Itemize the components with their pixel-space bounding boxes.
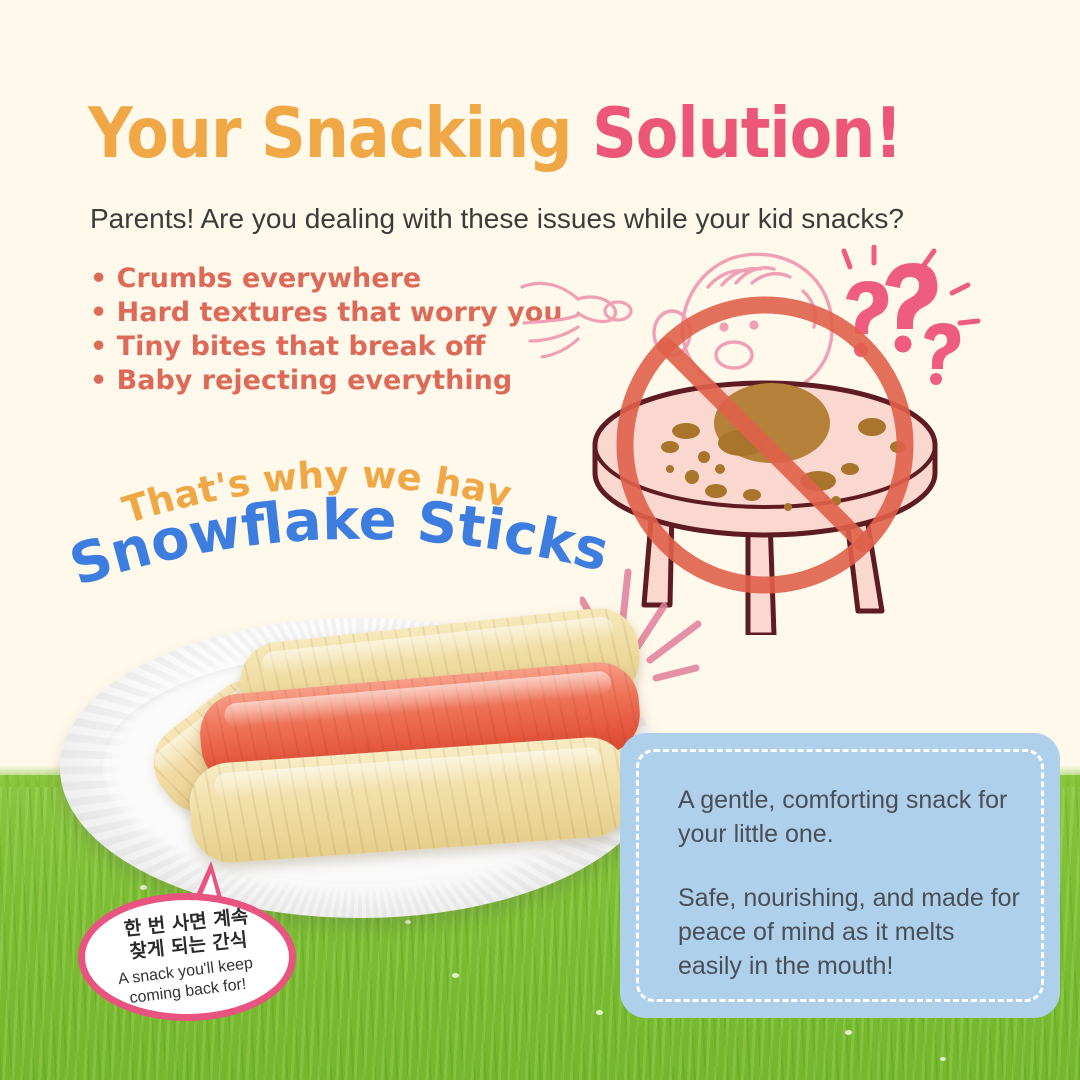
list-item: Baby rejecting everything xyxy=(90,364,563,398)
list-item: Hard textures that worry you xyxy=(90,296,563,330)
list-item: Crumbs everywhere xyxy=(90,262,563,296)
list-item: Tiny bites that break off xyxy=(90,330,563,364)
grass-fleck xyxy=(845,1030,852,1035)
snowflake-sticks-on-plate xyxy=(40,600,680,940)
title-part-solution: Solution! xyxy=(592,92,902,174)
grass-fleck xyxy=(940,1057,946,1061)
poster-canvas: Your Snacking Solution! Parents! Are you… xyxy=(0,0,1080,1080)
grass-fleck xyxy=(452,973,459,978)
info-box: A gentle, comforting snack for your litt… xyxy=(620,733,1060,1018)
pain-point-list: Crumbs everywhere Hard textures that wor… xyxy=(90,262,563,398)
hand-icon xyxy=(522,283,631,357)
question-marks-icon xyxy=(846,263,960,385)
info-box-text: A gentle, comforting snack for your litt… xyxy=(678,783,1020,983)
testimonial-bubble: 한 번 사면 계속 찾게 되는 간식 A snack you'll keep c… xyxy=(78,893,296,1021)
info-paragraph-2: Safe, nourishing, and made for peace of … xyxy=(678,881,1020,983)
info-paragraph-1: A gentle, comforting snack for your litt… xyxy=(678,783,1020,851)
title-part-snacking: Your Snacking xyxy=(88,92,592,174)
subtitle: Parents! Are you dealing with these issu… xyxy=(90,203,904,235)
grass-fleck xyxy=(596,1010,603,1015)
product-headline: That's why we have Snowflake Sticks! xyxy=(70,468,630,603)
page-title: Your Snacking Solution! xyxy=(88,92,902,174)
